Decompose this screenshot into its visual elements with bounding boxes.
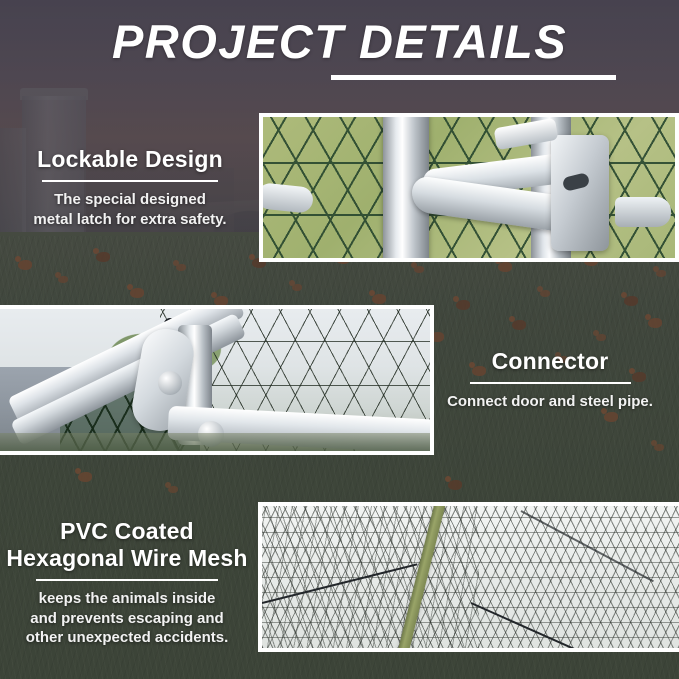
latch-side-stub	[615, 197, 671, 227]
feature-body-pvc-line-2: and prevents escaping and	[4, 609, 250, 629]
feature-body-connector-line-1: Connect door and steel pipe.	[430, 392, 670, 412]
feature-body-lockable-design-line-2: metal latch for extra safety.	[12, 210, 248, 230]
hexagonal-wire-mesh-photo	[258, 502, 679, 652]
feature-heading-connector: Connector	[430, 348, 670, 375]
feature-heading-rule	[36, 579, 218, 581]
latch-housing-block	[551, 135, 609, 251]
feature-block-lockable-design: Lockable Design The special designed met…	[12, 146, 248, 230]
project-details-infographic: PROJECT DETAILS	[0, 0, 679, 679]
connector-bolt-upper	[158, 371, 182, 395]
feature-body-pvc-line-3: other unexpected accidents.	[4, 628, 250, 648]
feature-heading-pvc-line-1: PVC Coated	[4, 518, 250, 545]
feature-heading-pvc-line-2: Hexagonal Wire Mesh	[4, 545, 250, 572]
connector-grass-strip	[0, 433, 430, 451]
feature-heading-lockable-design: Lockable Design	[12, 146, 248, 173]
feature-block-connector: Connector Connect door and steel pipe.	[430, 348, 670, 412]
feature-body-pvc-line-1: keeps the animals inside	[4, 589, 250, 609]
feature-heading-rule	[42, 180, 218, 182]
feature-heading-rule	[470, 382, 631, 384]
metal-latch-photo	[259, 113, 679, 262]
title-underline-rule	[331, 75, 616, 80]
page-title: PROJECT DETAILS	[0, 18, 679, 67]
feature-block-pvc-hexagonal-wire-mesh: PVC Coated Hexagonal Wire Mesh keeps the…	[4, 518, 250, 648]
steel-connector-photo	[0, 305, 434, 455]
feature-body-lockable-design-line-1: The special designed	[12, 190, 248, 210]
